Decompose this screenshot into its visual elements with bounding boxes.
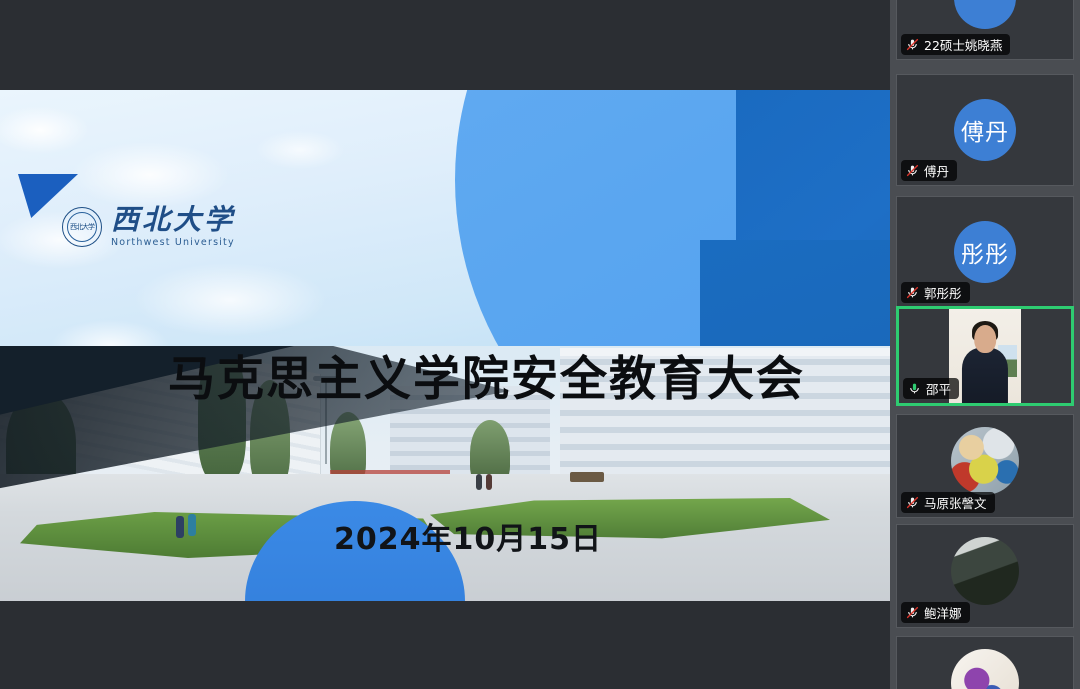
participant-video[interactable] [949,309,1021,403]
university-logo: 西北大学 西北大学 Northwest University [62,206,235,248]
mic-muted-icon [906,495,919,510]
participant-nameplate: 傅丹 [901,160,957,181]
mic-active-icon [908,381,921,396]
participant-tile[interactable]: 傅丹 傅丹 [896,74,1074,186]
participant-avatar[interactable] [954,0,1016,29]
campus-pedestrian [486,474,492,490]
campus-bench [570,472,604,482]
participant-avatar[interactable]: 傅丹 [954,99,1016,161]
participant-avatar[interactable]: 彤彤 [954,221,1016,283]
participant-avatar[interactable] [951,427,1019,495]
university-name-chinese: 西北大学 [111,206,235,234]
participant-face [974,325,996,353]
participant-nameplate: 鲍洋娜 [901,602,970,623]
presentation-slide[interactable]: 西北大学 西北大学 Northwest University 马克思主义学院安全… [0,90,890,601]
mic-muted-icon [906,285,919,300]
avatar-initials: 彤彤 [961,235,1009,269]
university-name-english: Northwest University [111,237,235,248]
participant-body [962,348,1008,403]
participant-name: 邵平 [926,379,951,398]
mic-muted-icon [906,163,919,178]
university-seal-icon: 西北大学 [62,207,102,247]
participant-avatar[interactable] [951,537,1019,605]
participant-name: 傅丹 [924,161,949,180]
participant-nameplate: 马原张謦文 [901,492,995,513]
participant-nameplate: 邵平 [903,378,959,399]
participant-name: 郭彤彤 [924,283,962,302]
university-logo-texts: 西北大学 Northwest University [111,206,235,248]
campus-pedestrian [188,514,196,536]
participant-name: 22硕士姚晓燕 [924,35,1002,54]
participant-nameplate: 22硕士姚晓燕 [901,34,1010,55]
participant-tile[interactable] [896,636,1074,689]
mic-muted-icon [906,37,919,52]
participant-tile[interactable]: 邵平 [896,306,1074,406]
video-conference-window: 西北大学 西北大学 Northwest University 马克思主义学院安全… [0,0,1080,689]
university-seal-inner-text: 西北大学 [67,212,97,242]
participant-nameplate: 郭彤彤 [901,282,970,303]
avatar-initials: 傅丹 [961,113,1009,147]
mic-muted-icon [906,605,919,620]
participant-tile[interactable]: 鲍洋娜 [896,524,1074,628]
participant-name: 马原张謦文 [924,493,987,512]
participant-tile[interactable]: 马原张謦文 [896,414,1074,518]
slide-date: 2024年10月15日 [334,514,602,558]
participant-avatar[interactable] [951,649,1019,689]
participant-tile[interactable]: 22硕士姚晓燕 [896,0,1074,60]
campus-pedestrian [176,516,184,538]
participant-filmstrip[interactable]: 22硕士姚晓燕 傅丹 傅丹 彤彤 郭彤彤 邵平 [890,0,1080,689]
campus-pedestrian [476,474,482,490]
participant-name: 鲍洋娜 [924,603,962,622]
participant-tile[interactable]: 彤彤 郭彤彤 [896,196,1074,308]
shared-screen-stage[interactable]: 西北大学 西北大学 Northwest University 马克思主义学院安全… [0,0,890,689]
slide-title: 马克思主义学院安全教育大会 [168,340,805,409]
